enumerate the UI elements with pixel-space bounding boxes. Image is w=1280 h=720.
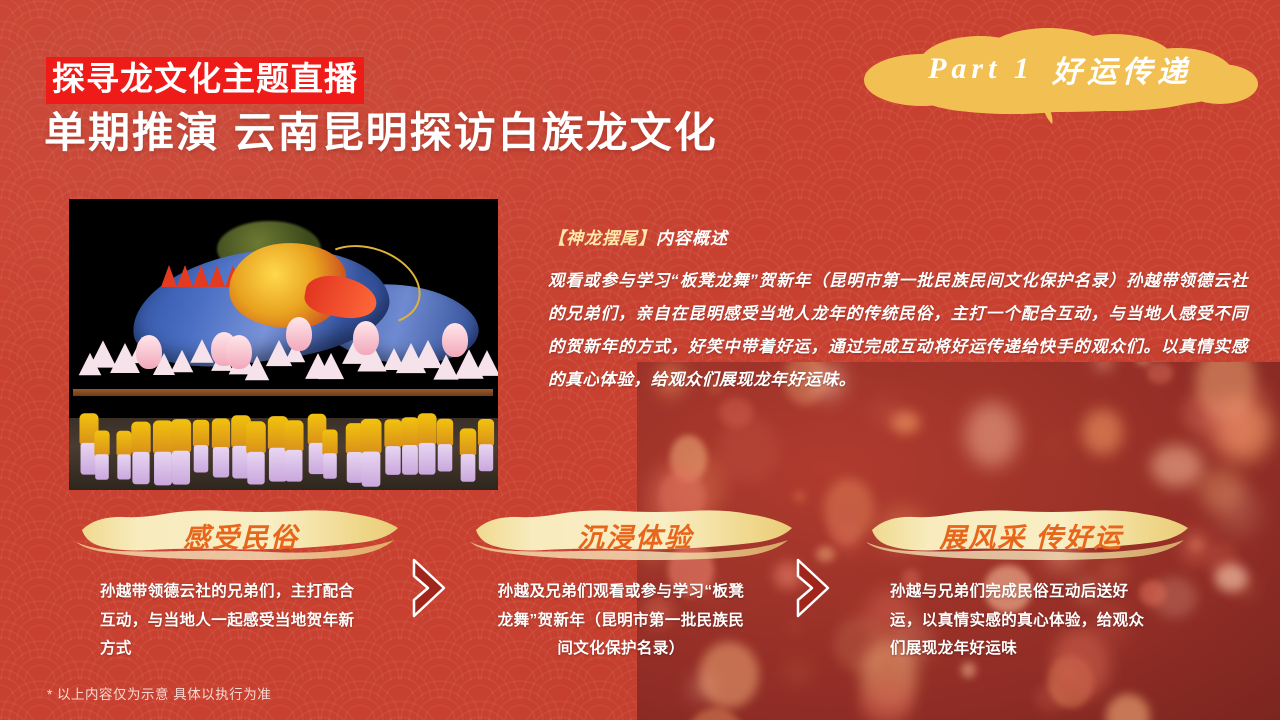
slide-stage: 探寻龙文化主题直播 单期推演 云南昆明探访白族龙文化 Part 1 好运传递 [0, 0, 1280, 720]
content-summary-heading: 【神龙摆尾】内容概述 [548, 224, 1248, 249]
bokeh-dot [1215, 564, 1248, 592]
photo-dancer-legs [286, 450, 303, 482]
disclaimer-note: * 以上内容仅为示意 具体以执行为准 [47, 683, 271, 703]
photo-dancer-hat [318, 353, 344, 379]
photo-dancer [416, 413, 437, 477]
photo-lantern [226, 335, 252, 369]
bokeh-dot [794, 492, 804, 501]
photo-dancer-torso [285, 420, 304, 452]
bokeh-dot [828, 508, 859, 544]
step-2-body: 孙越及兄弟们观看或参与学习“板凳龙舞”贺新年（昆明市第一批民族民间文化保护名录） [492, 578, 750, 664]
photo-dancer-torso [193, 420, 209, 447]
step-1-banner: 感受民俗 [76, 508, 406, 564]
photo-dancer [130, 422, 152, 487]
photo-dancer-legs [385, 446, 400, 475]
page-title: 单期推演 云南昆明探访白族龙文化 [44, 108, 718, 158]
photo-dancer [284, 420, 305, 484]
bokeh-dot [691, 677, 712, 700]
summary-tag-label: 【神龙摆尾】 [548, 229, 656, 248]
photo-dancer [322, 430, 339, 481]
dragon-dance-photo [69, 199, 498, 490]
photo-dancer [210, 419, 230, 480]
chevron-right-icon [406, 556, 450, 620]
bokeh-dot [719, 398, 753, 428]
part-badge: Part 1 好运传递 [862, 22, 1258, 124]
bokeh-dot [1203, 396, 1261, 451]
photo-dancer-legs [132, 452, 149, 484]
photo-dancer-hat [474, 350, 498, 376]
step-2-title: 沉浸体验 [470, 508, 800, 564]
step-2-banner: 沉浸体验 [470, 508, 800, 564]
step-card-3: 展风采 传好运 孙越与兄弟们完成民俗互动后送好运，以真情实感的真心体验，给观众们… [866, 508, 1218, 664]
photo-dancer-torso [360, 419, 381, 454]
page-kicker: 探寻龙文化主题直播 [46, 57, 364, 104]
content-summary-block: 【神龙摆尾】内容概述 观看或参与学习“板凳龙舞”贺新年（昆明市第一批民族民间文化… [548, 224, 1248, 397]
photo-bench-pole [73, 389, 493, 396]
step-1-body: 孙越带领德云社的兄弟们，主打配合互动，与当地人一起感受当地贺年新方式 [100, 578, 358, 664]
photo-lantern [353, 321, 379, 355]
photo-dancer-torso [478, 419, 494, 446]
photo-dancer-legs [172, 451, 190, 485]
content-summary-paragraph: 观看或参与学习“板凳龙舞”贺新年（昆明市第一批民族民间文化保护名录）孙越带领德云… [548, 265, 1248, 397]
photo-dancer [192, 420, 210, 475]
photo-dancer-torso [460, 428, 477, 456]
photo-dancer-legs [212, 447, 228, 478]
bokeh-dot [1151, 445, 1202, 487]
photo-dancer-torso [95, 430, 110, 456]
photo-dancer-legs [194, 446, 209, 473]
bokeh-dot [1250, 383, 1273, 404]
photo-lantern [136, 335, 162, 369]
summary-heading-rest: 内容概述 [656, 229, 728, 248]
photo-dancer-legs [362, 452, 381, 487]
photo-dancer [359, 419, 382, 489]
photo-dancer-torso [437, 418, 453, 445]
photo-lantern [442, 323, 468, 357]
step-3-title: 展风采 传好运 [866, 508, 1196, 564]
chevron-right-icon [790, 556, 834, 620]
bokeh-dot [891, 411, 920, 435]
bokeh-dot [718, 417, 779, 483]
photo-dancer-torso [417, 413, 436, 445]
photo-dancer-legs [479, 444, 493, 471]
photo-lantern [286, 317, 312, 351]
bokeh-dot [787, 663, 808, 681]
photo-dancer [477, 419, 495, 473]
bokeh-dot [961, 662, 976, 677]
photo-dancer-legs [438, 444, 453, 471]
part-title-label: 好运传递 [1052, 47, 1192, 91]
photo-dancer-torso [211, 419, 229, 450]
step-1-title: 感受民俗 [76, 508, 406, 564]
photo-dancer-torso [131, 422, 150, 454]
part-badge-label: Part 1 好运传递 [862, 22, 1258, 124]
photo-dancer-legs [402, 445, 418, 475]
step-card-2: 沉浸体验 孙越及兄弟们观看或参与学习“板凳龙舞”贺新年（昆明市第一批民族民间文化… [470, 508, 822, 664]
photo-dancer-legs [323, 454, 337, 480]
photo-dancer-legs [461, 454, 476, 482]
photo-dancer-legs [247, 452, 264, 485]
photo-dancer [436, 418, 454, 473]
photo-dancer-legs [96, 454, 110, 480]
bokeh-dot [1215, 487, 1260, 536]
step-3-banner: 展风采 传好运 [866, 508, 1196, 564]
arrow-step-1-to-2 [406, 556, 450, 620]
step-3-body: 孙越与兄弟们完成民俗互动后送好运，以真情实感的真心体验，给观众们展现龙年好运味 [890, 578, 1148, 664]
photo-dancer [170, 419, 193, 487]
photo-dancer-torso [322, 430, 337, 456]
photo-dancer-torso [384, 419, 401, 448]
photo-dancer-torso [246, 421, 266, 454]
step-card-1: 感受民俗 孙越带领德云社的兄弟们，主打配合互动，与当地人一起感受当地贺年新方式 [76, 508, 428, 664]
photo-dancer-torso [171, 419, 191, 453]
part-number-label: Part 1 [928, 52, 1034, 86]
bokeh-dot [860, 679, 913, 720]
arrow-step-2-to-3 [790, 556, 834, 620]
photo-dancer [245, 421, 267, 486]
photo-dancer [94, 430, 111, 481]
photo-dancer-legs [117, 454, 130, 479]
photo-dancer-legs [418, 443, 435, 475]
photo-dancer [459, 428, 477, 483]
